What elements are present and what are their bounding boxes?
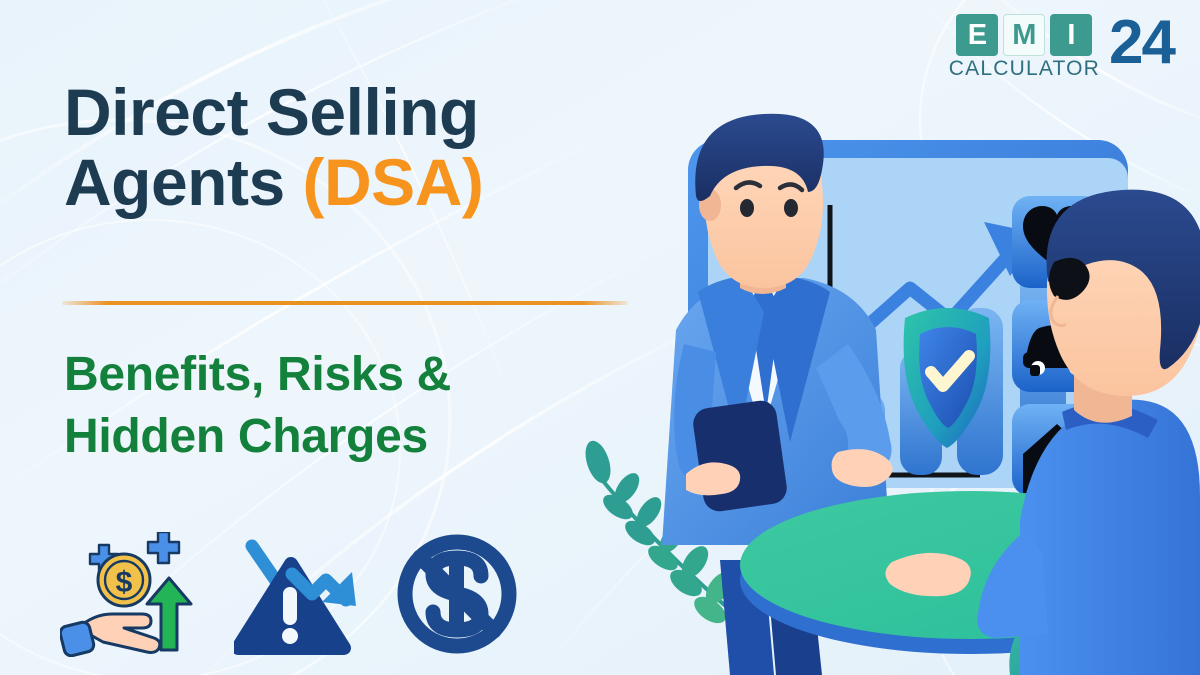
headline-line-2-main: Agents: [64, 145, 303, 219]
hand-coin-growth-icon: $: [60, 532, 210, 657]
dsa-agent-presentation-illustration: [580, 0, 1200, 675]
svg-text:$: $: [116, 566, 133, 599]
subtitle-line-2: Hidden Charges: [64, 406, 664, 468]
headline-accent-dsa: (DSA): [303, 145, 484, 219]
warning-decline-icon: [234, 532, 369, 657]
page-subtitle: Benefits, Risks & Hidden Charges: [64, 344, 664, 469]
no-money-icon: [393, 532, 523, 657]
title-divider: [62, 301, 628, 305]
benefit-risk-charge-icons: $: [60, 532, 523, 657]
handheld-tablet: [691, 399, 789, 514]
poster-canvas: E M I CALCULATOR 24 Direct Selling Agent…: [0, 0, 1200, 675]
subtitle-line-1: Benefits, Risks &: [64, 344, 664, 406]
